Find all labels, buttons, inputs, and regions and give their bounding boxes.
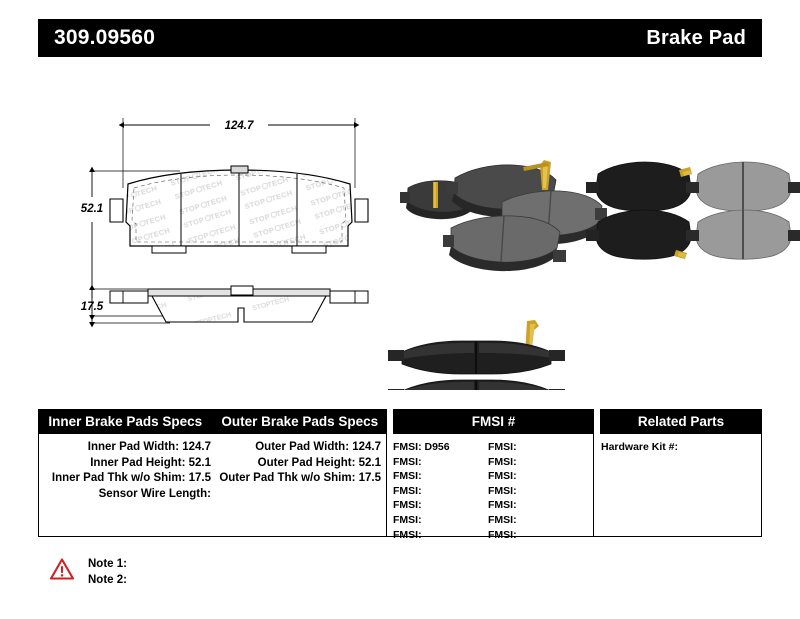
- fmsi-row: FMSI:: [393, 455, 450, 470]
- table-body: Inner Pad Width: 124.7 Inner Pad Height:…: [38, 434, 762, 537]
- note-line: Note 1:: [88, 556, 127, 572]
- fmsi-row: FMSI:: [488, 455, 517, 470]
- technical-drawing: STOP TECH STOP TECH STOPTECH: [0, 70, 800, 390]
- table-header-outer: Outer Brake Pads Specs: [213, 409, 388, 434]
- column-divider-1: [386, 434, 387, 537]
- pad-side-view: [110, 286, 368, 322]
- note-line: Note 2:: [88, 572, 127, 588]
- outer-spec-row: Outer Pad Height: 52.1: [215, 456, 381, 472]
- outer-spec-row: Outer Pad Width: 124.7: [215, 440, 381, 456]
- note-lines: Note 1: Note 2:: [88, 556, 127, 588]
- fmsi-row: FMSI:: [393, 498, 450, 513]
- fmsi-row: FMSI:: [393, 469, 450, 484]
- fmsi-row: FMSI:: [488, 528, 517, 543]
- fmsi-row: FMSI:: [393, 513, 450, 528]
- product-photo-flat-set: [586, 162, 800, 259]
- outer-specs-column: Outer Pad Width: 124.7 Outer Pad Height:…: [215, 440, 381, 487]
- inner-spec-row: Inner Pad Thk w/o Shim: 17.5: [39, 471, 211, 487]
- inner-spec-row: Inner Pad Width: 124.7: [39, 440, 211, 456]
- product-header-bar: 309.09560 Brake Pad: [38, 19, 762, 57]
- product-illustration-area: STOP TECH STOP TECH STOPTECH: [0, 70, 800, 390]
- table-header-related-label: Related Parts: [638, 414, 724, 429]
- hardware-kit-row: Hardware Kit #:: [601, 440, 678, 455]
- specifications-table: FMSI # Related Parts Inner Brake Pads Sp…: [38, 409, 762, 537]
- dimension-width-label: 124.7: [225, 120, 254, 132]
- table-header-inner-label: Inner Brake Pads Specs: [48, 414, 202, 429]
- product-photo-edge-pair: [388, 320, 565, 390]
- dimension-thickness-label: 17.5: [81, 301, 104, 313]
- inner-spec-row: Sensor Wire Length:: [39, 487, 211, 503]
- warning-triangle-icon: [50, 558, 74, 580]
- fmsi-row: FMSI:: [488, 440, 517, 455]
- table-header-outer-label: Outer Brake Pads Specs: [221, 414, 378, 429]
- table-header-fmsi: FMSI #: [393, 409, 594, 434]
- outer-spec-row: Outer Pad Thk w/o Shim: 17.5: [215, 471, 381, 487]
- table-header-related-parts: Related Parts: [600, 409, 762, 434]
- inner-spec-row: Inner Pad Height: 52.1: [39, 456, 211, 472]
- fmsi-row: FMSI:: [393, 484, 450, 499]
- dimension-height-label: 52.1: [81, 203, 103, 215]
- fmsi-row: FMSI:: [488, 484, 517, 499]
- product-photo-angled-set: [400, 160, 607, 271]
- fmsi-row: FMSI:: [488, 498, 517, 513]
- inner-specs-column: Inner Pad Width: 124.7 Inner Pad Height:…: [39, 440, 211, 502]
- related-parts-column: Hardware Kit #:: [601, 440, 678, 455]
- table-header-inner: Inner Brake Pads Specs: [38, 409, 213, 434]
- fmsi-column-left: FMSI: D956 FMSI: FMSI: FMSI: FMSI: FMSI:…: [393, 440, 450, 542]
- fmsi-row: FMSI:: [393, 528, 450, 543]
- header-split-pads: Inner Brake Pads Specs Outer Brake Pads …: [38, 409, 387, 434]
- fmsi-row: FMSI: D956: [393, 440, 450, 455]
- part-number: 309.09560: [54, 26, 155, 50]
- table-header-fmsi-label: FMSI #: [472, 414, 516, 429]
- fmsi-row: FMSI:: [488, 469, 517, 484]
- pad-front-view: [110, 166, 368, 253]
- notes-section: Note 1: Note 2:: [50, 556, 127, 588]
- column-divider-2: [593, 434, 594, 537]
- product-type-label: Brake Pad: [646, 27, 746, 50]
- fmsi-column-right: FMSI: FMSI: FMSI: FMSI: FMSI: FMSI: FMSI…: [488, 440, 517, 542]
- fmsi-row: FMSI:: [488, 513, 517, 528]
